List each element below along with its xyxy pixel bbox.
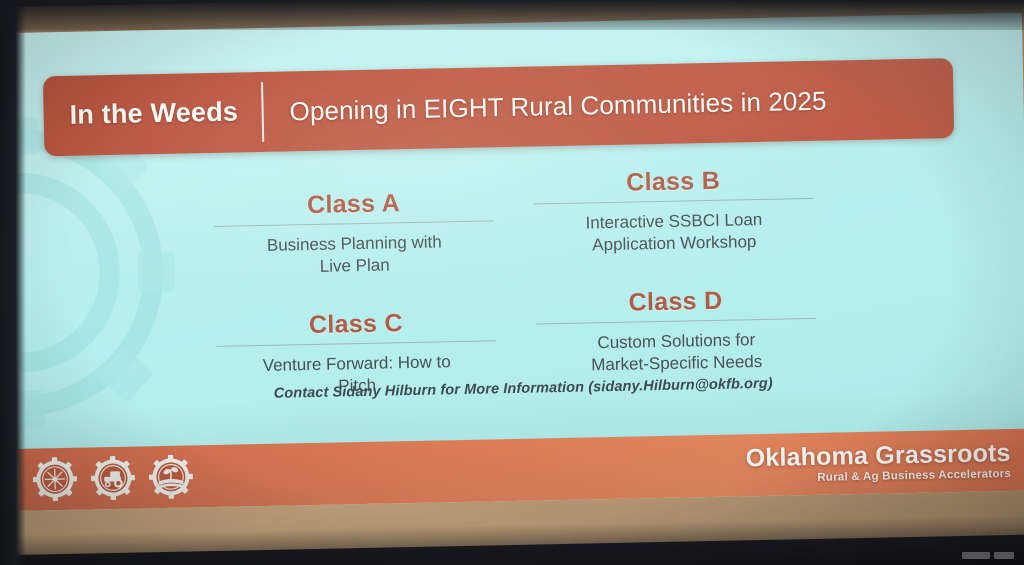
brand-name: Oklahoma Grassroots [745, 441, 1010, 471]
class-a-rule [214, 220, 494, 227]
class-a-title: Class A [213, 187, 494, 222]
sunflower-gear-icon [33, 457, 78, 502]
brand-lockup: Oklahoma Grassroots Rural & Ag Business … [745, 440, 1015, 484]
presentation-slide: In the Weeds Opening in EIGHT Rural Comm… [10, 13, 1024, 511]
class-a-description: Business Planning with Live Plan [214, 230, 495, 280]
class-b-rule [534, 198, 814, 205]
class-c-title: Class C [216, 307, 497, 342]
class-d-rule [536, 318, 816, 325]
class-d-title: Class D [535, 285, 816, 320]
gear-watermark-icon [10, 115, 178, 431]
projected-slide-photo: In the Weeds Opening in EIGHT Rural Comm… [0, 0, 1024, 565]
slide-header-banner: In the Weeds Opening in EIGHT Rural Comm… [43, 58, 954, 156]
class-d-description: Custom Solutions for Market-Specific Nee… [536, 328, 817, 378]
tractor-gear-icon [91, 456, 136, 501]
slide-title: In the Weeds [43, 97, 262, 131]
class-b-title: Class B [533, 165, 814, 200]
class-c-rule [216, 340, 496, 347]
corner-device-label [962, 550, 1018, 561]
photo-left-edge [0, 0, 26, 565]
photo-top-edge [0, 0, 1024, 30]
slide-subtitle: Opening in EIGHT Rural Communities in 20… [263, 83, 953, 128]
class-b-description: Interactive SSBCI Loan Application Works… [534, 208, 815, 258]
footer-icon-group [33, 454, 194, 501]
class-card-a: Class A Business Planning with Live Plan [203, 171, 505, 297]
sprout-gear-icon [149, 454, 194, 499]
class-card-b: Class B Interactive SSBCI Loan Applicati… [523, 165, 825, 291]
class-row-top: Class A Business Planning with Live Plan… [203, 164, 845, 297]
